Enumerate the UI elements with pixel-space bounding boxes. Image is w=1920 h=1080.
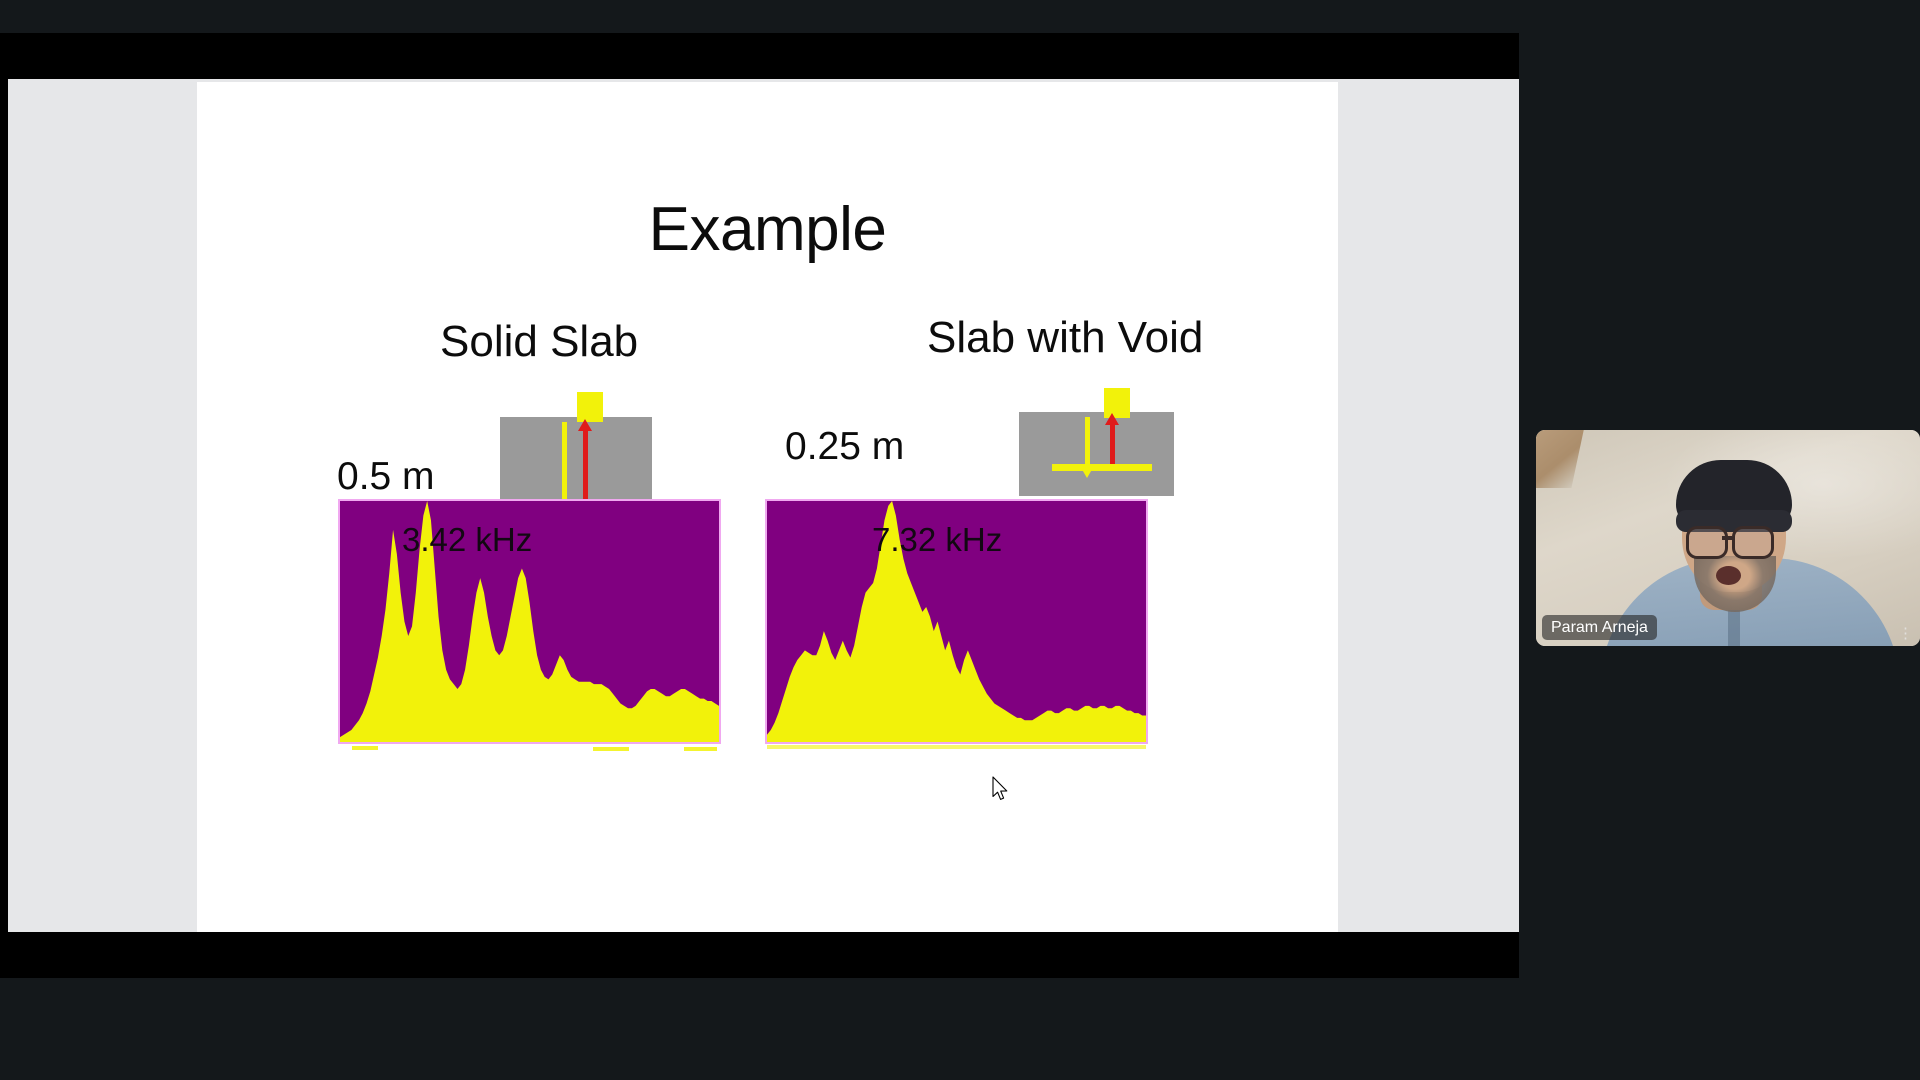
participant-mouth bbox=[1716, 566, 1741, 585]
slab-diagram-void bbox=[1019, 412, 1174, 496]
chart-artifact bbox=[767, 745, 1146, 749]
chart-artifact bbox=[684, 747, 717, 751]
participant-name-label: Param Arneja bbox=[1542, 615, 1657, 640]
page-title: Example bbox=[197, 199, 1338, 261]
depth-label-solid-slab: 0.5 m bbox=[337, 457, 435, 496]
video-tile-more-icon[interactable]: ⋮ bbox=[1898, 629, 1913, 639]
impact-wave-arrow-solid bbox=[562, 422, 567, 508]
depth-label-slab-with-void: 0.25 m bbox=[785, 427, 904, 466]
column-heading-slab-with-void: Slab with Void bbox=[927, 316, 1203, 360]
app-root: Example A E&C Solid Slab Slab with Void … bbox=[0, 0, 1920, 1080]
spectrum-chart-solid-slab: 3.42 kHz bbox=[338, 499, 721, 744]
glasses-right-lens-icon bbox=[1732, 526, 1774, 559]
chart-artifact bbox=[352, 746, 378, 750]
chart-artifact bbox=[593, 747, 629, 751]
column-heading-solid-slab: Solid Slab bbox=[440, 320, 638, 364]
frequency-label-solid: 3.42 kHz bbox=[402, 523, 532, 556]
spectrum-chart-slab-with-void: 7.32 kHz bbox=[765, 499, 1148, 744]
frequency-label-void: 7.32 kHz bbox=[872, 523, 1002, 556]
impact-wave-arrow-void bbox=[1085, 417, 1090, 467]
void-line-marker bbox=[1052, 464, 1152, 471]
transducer-icon-solid bbox=[577, 392, 603, 422]
participant-beanie bbox=[1676, 460, 1792, 528]
glasses-left-lens-icon bbox=[1686, 526, 1728, 559]
participant-video-tile[interactable]: Param Arneja ⋮ bbox=[1536, 430, 1920, 646]
glasses-bridge bbox=[1722, 536, 1732, 540]
shared-content-viewport[interactable]: Example A E&C Solid Slab Slab with Void … bbox=[8, 79, 1519, 932]
presentation-slide: Example A E&C Solid Slab Slab with Void … bbox=[197, 82, 1338, 932]
